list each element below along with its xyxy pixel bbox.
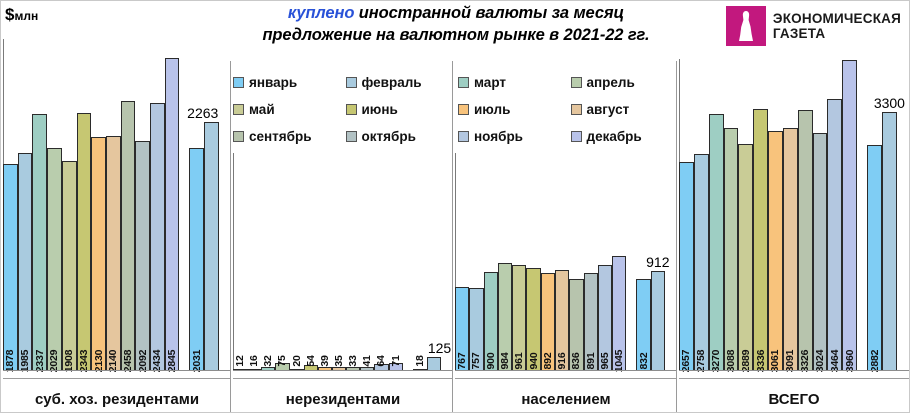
bar-slot: 18 bbox=[413, 41, 427, 371]
caption-rule bbox=[679, 378, 909, 379]
caption-rule bbox=[233, 378, 453, 379]
bar[interactable]: 3061 bbox=[768, 131, 783, 372]
bar-value-label: 961 bbox=[513, 353, 525, 370]
bar-slot: 16 bbox=[247, 41, 261, 371]
bar-value-label: 767 bbox=[456, 353, 468, 370]
bar[interactable]: 912 bbox=[651, 271, 665, 371]
bar-slot: 2031 bbox=[189, 41, 204, 371]
bar-slot: 3088 bbox=[724, 41, 739, 371]
bar[interactable]: 2889 bbox=[738, 144, 753, 371]
bar-value-label: 1045 bbox=[613, 350, 625, 373]
bar-value-label: 20 bbox=[291, 355, 303, 366]
bar-slot: 1045 bbox=[612, 41, 626, 371]
bar-slot: 2845 bbox=[165, 41, 180, 371]
bar-value-label: 75 bbox=[276, 355, 288, 366]
bar-slot: 891 bbox=[584, 41, 598, 371]
bar-slot: 2343 bbox=[77, 41, 92, 371]
bar-slot: 3464 bbox=[827, 41, 842, 371]
group-plot-area: 7677579009849619408929168368919651045832… bbox=[455, 41, 677, 371]
caption-rule bbox=[455, 378, 677, 379]
bar-slot: 2092 bbox=[135, 41, 150, 371]
bar[interactable]: 2882 bbox=[867, 145, 882, 371]
bar-value-label: 2434 bbox=[151, 350, 163, 373]
bar[interactable]: 1985 bbox=[18, 153, 33, 371]
bar-value-label: 757 bbox=[470, 353, 482, 370]
bar-series: 1878198523372029190823432130214024582092… bbox=[3, 41, 231, 371]
bar[interactable]: 2092 bbox=[135, 141, 150, 371]
bar-value-label: 2337 bbox=[34, 350, 46, 373]
bar-slot: 3061 bbox=[768, 41, 783, 371]
bar-slot: 3300 bbox=[882, 41, 897, 371]
bar[interactable]: 940 bbox=[526, 268, 540, 371]
bar-slot: 757 bbox=[469, 41, 483, 371]
bar-value-label: 35 bbox=[333, 355, 345, 366]
bar-slot: 35 bbox=[332, 41, 346, 371]
bar-series: 2657275832703088288933363061309133263024… bbox=[679, 41, 909, 371]
bar[interactable]: 1045 bbox=[612, 256, 626, 371]
bar[interactable]: 2434 bbox=[150, 103, 165, 371]
bar-value-label: 1985 bbox=[19, 350, 31, 373]
bar[interactable]: 3326 bbox=[798, 110, 813, 371]
chart-group-4: 2657275832703088288933363061309133263024… bbox=[679, 1, 909, 413]
bar-value-label: 3336 bbox=[755, 350, 767, 373]
bar-value-label: 940 bbox=[528, 353, 540, 370]
bar[interactable]: 892 bbox=[541, 273, 555, 371]
bar-slot: 3326 bbox=[798, 41, 813, 371]
bar-value-label: 33 bbox=[347, 355, 359, 366]
group-caption: суб. хоз. резидентами bbox=[3, 391, 231, 408]
bar-slot: 2140 bbox=[106, 41, 121, 371]
bar-value-label: 3270 bbox=[710, 350, 722, 373]
bar-slot: 2657 bbox=[679, 41, 694, 371]
bar[interactable]: 2337 bbox=[32, 114, 47, 371]
bar[interactable]: 961 bbox=[512, 265, 526, 371]
group-plot-area: 1878198523372029190823432130214024582092… bbox=[3, 41, 231, 371]
bar[interactable]: 2031 bbox=[189, 148, 204, 371]
bar-slot: 1985 bbox=[18, 41, 33, 371]
bar[interactable]: 3960 bbox=[842, 60, 857, 371]
bar-series: 7677579009849619408929168368919651045832… bbox=[455, 41, 677, 371]
bar[interactable]: 2458 bbox=[121, 101, 136, 371]
bar-value-label: 3091 bbox=[784, 350, 796, 373]
bar-value-label: 64 bbox=[375, 355, 387, 366]
bar-value-label: 18 bbox=[414, 355, 426, 366]
bar-value-label: 2031 bbox=[191, 350, 203, 373]
chart-group-2: 12163275205439353341647118125нерезидента… bbox=[233, 1, 453, 413]
bar-value-label: 2758 bbox=[695, 350, 707, 373]
bar[interactable]: 3300 bbox=[882, 112, 897, 371]
bar-value-label: 12 bbox=[234, 355, 246, 366]
group-separator bbox=[676, 61, 677, 412]
bar-value-label: 916 bbox=[556, 353, 568, 370]
group-baseline bbox=[679, 370, 909, 371]
bar-slot: 836 bbox=[569, 41, 583, 371]
bar-slot: 12 bbox=[233, 41, 247, 371]
bar-slot: 892 bbox=[541, 41, 555, 371]
bar-slot: 3336 bbox=[753, 41, 768, 371]
bar-value-label: 2343 bbox=[78, 350, 90, 373]
bar[interactable]: 2343 bbox=[77, 113, 92, 371]
bar-value-label: 71 bbox=[390, 355, 402, 366]
bar-slot: 2029 bbox=[47, 41, 62, 371]
bar-top-value-label: 3300 bbox=[874, 95, 905, 111]
bar-value-label: 2889 bbox=[740, 350, 752, 373]
bar-slot: 916 bbox=[555, 41, 569, 371]
bar-slot: 912 bbox=[651, 41, 665, 371]
bar-value-label: 54 bbox=[305, 355, 317, 366]
group-baseline bbox=[455, 370, 677, 371]
bar-value-label: 2458 bbox=[122, 350, 134, 373]
bar-slot: 2758 bbox=[694, 41, 709, 371]
group-baseline bbox=[3, 370, 231, 371]
bar-top-value-label: 125 bbox=[428, 340, 451, 356]
bar-slot: 125 bbox=[427, 41, 441, 371]
bar-slot: 32 bbox=[261, 41, 275, 371]
bar-slot: 54 bbox=[304, 41, 318, 371]
bar-value-label: 891 bbox=[585, 353, 597, 370]
bar-value-label: 2092 bbox=[137, 350, 149, 373]
bar-value-label: 41 bbox=[361, 355, 373, 366]
bar-slot: 2882 bbox=[867, 41, 882, 371]
group-caption: нерезидентами bbox=[233, 391, 453, 408]
bar[interactable]: 1878 bbox=[3, 164, 18, 371]
bar-value-label: 1908 bbox=[63, 350, 75, 373]
bar-slot: 33 bbox=[346, 41, 360, 371]
bar-value-label: 984 bbox=[499, 353, 511, 370]
chart-group-1: 1878198523372029190823432130214024582092… bbox=[3, 1, 231, 413]
bar-slot: 3091 bbox=[783, 41, 798, 371]
group-caption: ВСЕГО bbox=[679, 391, 909, 408]
bar-value-label: 2845 bbox=[166, 350, 178, 373]
bar-value-label: 3061 bbox=[769, 350, 781, 373]
bar-slot: 1908 bbox=[62, 41, 77, 371]
bar[interactable]: 3024 bbox=[813, 133, 828, 371]
bar-value-label: 16 bbox=[248, 355, 260, 366]
bar[interactable]: 3464 bbox=[827, 99, 842, 371]
bar-top-value-label: 2263 bbox=[187, 105, 218, 121]
bar[interactable]: 2140 bbox=[106, 136, 121, 371]
group-separator bbox=[452, 61, 453, 412]
bar-slot: 75 bbox=[275, 41, 289, 371]
bar[interactable]: 900 bbox=[484, 272, 498, 371]
bar-value-label: 3024 bbox=[814, 350, 826, 373]
bar-value-label: 2882 bbox=[869, 350, 881, 373]
bar[interactable]: 3088 bbox=[724, 128, 739, 371]
bar-value-label: 1878 bbox=[4, 350, 16, 373]
bar-value-label: 2029 bbox=[48, 350, 60, 373]
bar-value-label: 2130 bbox=[93, 350, 105, 373]
bar[interactable]: 2029 bbox=[47, 148, 62, 371]
bar-slot: 71 bbox=[389, 41, 403, 371]
bar[interactable]: 3091 bbox=[783, 128, 798, 371]
bar-slot: 832 bbox=[636, 41, 650, 371]
bar-slot: 965 bbox=[598, 41, 612, 371]
bar[interactable]: 2130 bbox=[91, 137, 106, 371]
bar[interactable]: 916 bbox=[555, 270, 569, 371]
bar-slot: 2263 bbox=[204, 41, 219, 371]
bar[interactable]: 3336 bbox=[753, 109, 768, 371]
bar[interactable]: 2657 bbox=[679, 162, 694, 371]
bar[interactable]: 125 bbox=[427, 357, 441, 371]
bar[interactable]: 891 bbox=[584, 273, 598, 371]
bar-slot: 940 bbox=[526, 41, 540, 371]
bar-slot: 3960 bbox=[842, 41, 857, 371]
bar-slot: 20 bbox=[290, 41, 304, 371]
bar-slot: 3024 bbox=[813, 41, 828, 371]
bar-slot: 2458 bbox=[121, 41, 136, 371]
bar-value-label: 39 bbox=[319, 355, 331, 366]
bar[interactable]: 2845 bbox=[165, 58, 180, 371]
bar[interactable]: 757 bbox=[469, 288, 483, 371]
group-caption: населением bbox=[455, 391, 677, 408]
bar-slot: 3270 bbox=[709, 41, 724, 371]
bar-slot: 64 bbox=[374, 41, 388, 371]
chart-panels: 1878198523372029190823432130214024582092… bbox=[1, 1, 910, 413]
bar[interactable]: 2263 bbox=[204, 122, 219, 371]
bar-slot: 961 bbox=[512, 41, 526, 371]
bar[interactable]: 3270 bbox=[709, 114, 724, 371]
bar-value-label: 3088 bbox=[725, 350, 737, 373]
bar-slot: 1878 bbox=[3, 41, 18, 371]
bar[interactable]: 836 bbox=[569, 279, 583, 371]
bar-value-label: 32 bbox=[262, 355, 274, 366]
bar-value-label: 892 bbox=[542, 353, 554, 370]
chart-root: $млн куплено иностранной валюты за месяц… bbox=[0, 0, 910, 413]
bar[interactable]: 1908 bbox=[62, 161, 77, 371]
bar-slot: 767 bbox=[455, 41, 469, 371]
bar-slot: 2434 bbox=[150, 41, 165, 371]
bar-top-value-label: 912 bbox=[646, 254, 669, 270]
bar-value-label: 2657 bbox=[680, 350, 692, 373]
bar[interactable]: 2758 bbox=[694, 154, 709, 371]
bar-series: 12163275205439353341647118125 bbox=[233, 41, 453, 371]
bar[interactable]: 984 bbox=[498, 263, 512, 371]
bar-slot: 984 bbox=[498, 41, 512, 371]
bar-value-label: 836 bbox=[570, 353, 582, 370]
chart-group-3: 7677579009849619408929168368919651045832… bbox=[455, 1, 677, 413]
group-plot-area: 12163275205439353341647118125 bbox=[233, 41, 453, 371]
bar-value-label: 965 bbox=[599, 353, 611, 370]
bar[interactable]: 965 bbox=[598, 265, 612, 371]
bar-slot: 2337 bbox=[32, 41, 47, 371]
bar-value-label: 3960 bbox=[844, 350, 856, 373]
bar-slot: 900 bbox=[484, 41, 498, 371]
bar[interactable]: 767 bbox=[455, 287, 469, 371]
bar-slot: 39 bbox=[318, 41, 332, 371]
bar[interactable]: 832 bbox=[636, 279, 650, 371]
bar-slot: 2130 bbox=[91, 41, 106, 371]
group-separator bbox=[230, 61, 231, 412]
bar-slot: 2889 bbox=[738, 41, 753, 371]
caption-rule bbox=[3, 378, 231, 379]
bar-value-label: 3326 bbox=[799, 350, 811, 373]
bar-value-label: 3464 bbox=[829, 350, 841, 373]
bar-value-label: 900 bbox=[485, 353, 497, 370]
bar-value-label: 832 bbox=[638, 353, 650, 370]
bar-value-label: 2140 bbox=[107, 350, 119, 373]
group-plot-area: 2657275832703088288933363061309133263024… bbox=[679, 41, 909, 371]
group-baseline bbox=[233, 370, 453, 371]
bar-slot: 41 bbox=[360, 41, 374, 371]
